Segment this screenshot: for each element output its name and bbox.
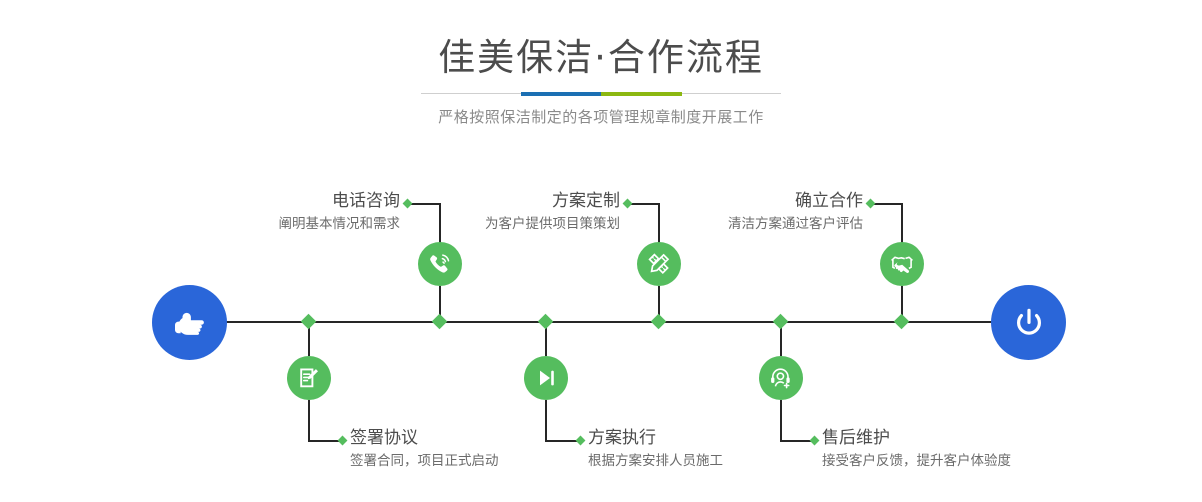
timeline-end-node	[991, 285, 1066, 360]
headset-support-icon	[768, 365, 794, 391]
step-node-5	[880, 242, 924, 286]
connector-dot-2	[338, 436, 348, 446]
handshake-icon	[889, 251, 915, 277]
cooperation-process-infographic: 佳美保洁·合作流程 严格按照保洁制定的各项管理规章制度开展工作	[0, 0, 1202, 502]
step-node-2	[287, 356, 331, 400]
timeline-start-node	[152, 285, 227, 360]
step-node-6	[759, 356, 803, 400]
connector-elbow-h-3	[628, 203, 660, 205]
step-label-6: 售后维护 接受客户反馈，提升客户体验度	[822, 427, 1102, 472]
step-desc-6: 接受客户反馈，提升客户体验度	[822, 450, 1102, 472]
phone-call-icon	[427, 251, 453, 277]
connector-elbow-v-3	[658, 203, 660, 243]
page-subtitle: 严格按照保洁制定的各项管理规章制度开展工作	[0, 106, 1202, 128]
timeline-marker-1	[432, 314, 448, 330]
step-label-4: 方案执行 根据方案安排人员施工	[588, 427, 848, 472]
play-execute-icon	[533, 365, 559, 391]
step-desc-5: 清洁方案通过客户评估	[663, 213, 863, 235]
step-title-4: 方案执行	[588, 427, 848, 449]
step-title-2: 签署协议	[350, 427, 610, 449]
connector-elbow-v-2	[308, 400, 310, 441]
step-node-1	[418, 242, 462, 286]
pencil-ruler-icon	[646, 251, 672, 277]
page-title: 佳美保洁·合作流程	[0, 36, 1202, 80]
step-title-3: 方案定制	[420, 190, 620, 212]
step-title-5: 确立合作	[663, 190, 863, 212]
timeline-marker-2	[301, 314, 317, 330]
connector-dot-5	[866, 199, 876, 209]
step-title-6: 售后维护	[822, 427, 1102, 449]
connector-elbow-h-2	[308, 440, 341, 442]
power-icon	[1008, 302, 1050, 344]
timeline-marker-3	[651, 314, 667, 330]
step-desc-1: 阐明基本情况和需求	[200, 213, 400, 235]
connector-elbow-h-5	[871, 203, 903, 205]
timeline-marker-4	[538, 314, 554, 330]
step-title-1: 电话咨询	[200, 190, 400, 212]
pointing-hand-icon	[169, 302, 211, 344]
connector-elbow-v-5	[901, 203, 903, 243]
divider-blue-segment	[521, 92, 601, 96]
step-label-3: 方案定制 为客户提供项目策策划	[420, 190, 620, 235]
timeline-marker-6	[773, 314, 789, 330]
connector-dot-1	[403, 199, 413, 209]
step-desc-4: 根据方案安排人员施工	[588, 450, 848, 472]
step-node-4	[524, 356, 568, 400]
step-desc-2: 签署合同，项目正式启动	[350, 450, 610, 472]
step-node-3	[637, 242, 681, 286]
step-label-1: 电话咨询 阐明基本情况和需求	[200, 190, 400, 235]
step-label-5: 确立合作 清洁方案通过客户评估	[663, 190, 863, 235]
divider-green-segment	[601, 92, 682, 96]
document-edit-icon	[296, 365, 322, 391]
connector-dot-3	[623, 199, 633, 209]
title-divider	[421, 92, 781, 96]
step-label-2: 签署协议 签署合同，项目正式启动	[350, 427, 610, 472]
step-desc-3: 为客户提供项目策策划	[420, 213, 620, 235]
timeline-marker-5	[894, 314, 910, 330]
